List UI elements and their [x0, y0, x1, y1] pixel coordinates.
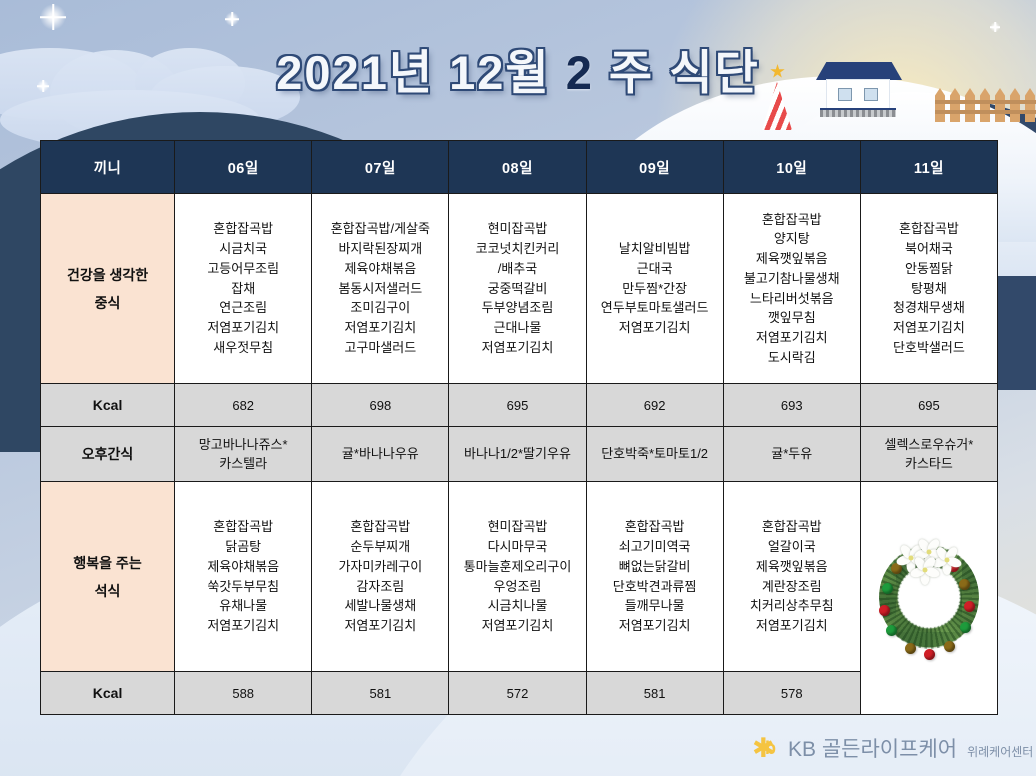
header-day-06: 06일 [175, 141, 312, 194]
row-label-lunch-line2: 중식 [43, 289, 172, 317]
house-window [864, 88, 878, 101]
star-sparkle-icon [40, 4, 66, 30]
table-row-dinner-kcal: Kcal 588 581 572 581 578 [41, 672, 998, 715]
ornament-green [960, 622, 971, 633]
logo-letter-b: b [765, 739, 776, 757]
cell-kcal-lunch-08: 695 [449, 384, 586, 427]
cell-snack-09: 단호박죽*토마토1/2 [586, 427, 723, 482]
row-label-dinner: 행복을 주는 석식 [41, 482, 175, 672]
cell-kcal-lunch-07: 698 [312, 384, 449, 427]
star-sparkle-icon [225, 12, 239, 26]
cell-lunch-09: 날치알비빔밥근대국만두찜*간장연두부토마토샐러드저염포기김치 [586, 194, 723, 384]
row-label-lunch-line1: 건강을 생각한 [43, 261, 172, 289]
cell-dinner-09: 혼합잡곡밥쇠고기미역국뼈없는닭갈비단호박견과류찜들깨무나물저염포기김치 [586, 482, 723, 672]
header-day-08: 08일 [449, 141, 586, 194]
cell-snack-07: 귤*바나나우유 [312, 427, 449, 482]
table-row-dinner: 행복을 주는 석식 혼합잡곡밥닭곰탕제육야채볶음쑥갓두부무침유채나물저염포기김치… [41, 482, 998, 672]
cell-kcal-dinner-09: 581 [586, 672, 723, 715]
fence-icon [935, 88, 1036, 124]
header-day-09: 09일 [586, 141, 723, 194]
white-flower-icon [936, 549, 958, 571]
row-label-kcal-dinner: Kcal [41, 672, 175, 715]
ornament-gold [959, 579, 970, 590]
cell-kcal-dinner-08: 572 [449, 672, 586, 715]
kb-golden-life-care-logo: ✱ b KB 골든라이프케어 위례케어센터 [752, 733, 1033, 763]
title-week-number: 2 [566, 46, 594, 99]
table-header-row: 끼니 06일 07일 08일 09일 10일 11일 [41, 141, 998, 194]
cell-dinner-07: 혼합잡곡밥순두부찌개가자미카레구이감자조림세발나물생채저염포기김치 [312, 482, 449, 672]
star-sparkle-icon [37, 80, 49, 92]
row-label-dinner-line1: 행복을 주는 [43, 549, 172, 577]
header-day-10: 10일 [723, 141, 860, 194]
cell-lunch-06: 혼합잡곡밥시금치국고등어무조림잡채연근조림저염포기김치새우젓무침 [175, 194, 312, 384]
row-label-lunch: 건강을 생각한 중식 [41, 194, 175, 384]
house-icon [820, 62, 898, 120]
row-label-dinner-line2: 석식 [43, 577, 172, 605]
house-window [838, 88, 852, 101]
row-label-kcal-lunch: Kcal [41, 384, 175, 427]
cell-snack-06: 망고바나나쥬스*카스텔라 [175, 427, 312, 482]
logo-main-text: KB 골든라이프케어 [788, 733, 957, 763]
title-prefix: 2021년 12월 [276, 46, 565, 99]
weekly-menu-table: 끼니 06일 07일 08일 09일 10일 11일 건강을 생각한 중식 혼합… [40, 140, 998, 715]
cell-lunch-10: 혼합잡곡밥양지탕제육깻잎볶음불고기참나물생채느타리버섯볶음깻잎무침저염포기김치도… [723, 194, 860, 384]
logo-sub-text: 위례케어센터 [967, 743, 1033, 760]
meal-plan-poster: 2021년 12월 2 주 식단 끼니 06일 07일 08일 09일 10일 … [0, 0, 1036, 776]
cell-kcal-lunch-06: 682 [175, 384, 312, 427]
cell-kcal-lunch-11: 695 [860, 384, 997, 427]
candy-tree-cone [762, 82, 792, 130]
candy-tree-icon [762, 68, 792, 130]
header-day-11: 11일 [860, 141, 997, 194]
house-body [826, 79, 890, 109]
cell-dinner-08: 현미잡곡밥다시마무국통마늘훈제오리구이우엉조림시금치나물저염포기김치 [449, 482, 586, 672]
ornament-red [924, 649, 935, 660]
table-row-lunch-kcal: Kcal 682 698 695 692 693 695 [41, 384, 998, 427]
white-flower-icon [914, 559, 936, 581]
cell-kcal-lunch-09: 692 [586, 384, 723, 427]
cell-kcal-dinner-10: 578 [723, 672, 860, 715]
ornament-red [964, 601, 975, 612]
ornament-gold [905, 643, 916, 654]
ornament-green [886, 625, 897, 636]
wreath-graphic [870, 533, 988, 663]
table-row-snack: 오후간식 망고바나나쥬스*카스텔라 귤*바나나우유 바나나1/2*딸기우유 단호… [41, 427, 998, 482]
cell-kcal-dinner-06: 588 [175, 672, 312, 715]
cell-dinner-10: 혼합잡곡밥얼갈이국제육깻잎볶음계란장조림치커리상추무침저염포기김치 [723, 482, 860, 672]
row-label-snack: 오후간식 [41, 427, 175, 482]
christmas-wreath-image [860, 482, 997, 715]
menu-table-wrapper: 끼니 06일 07일 08일 09일 10일 11일 건강을 생각한 중식 혼합… [40, 140, 998, 715]
ornament-green [882, 583, 893, 594]
star-sparkle-icon [990, 22, 1000, 32]
cell-snack-11: 셀렉스로우슈거*카스타드 [860, 427, 997, 482]
cell-dinner-06: 혼합잡곡밥닭곰탕제육야채볶음쑥갓두부무침유채나물저염포기김치 [175, 482, 312, 672]
header-day-07: 07일 [312, 141, 449, 194]
cell-lunch-07: 혼합잡곡밥/게살죽바지락된장찌개제육야채볶음봄동시저샐러드조미김구이저염포기김치… [312, 194, 449, 384]
house-base [820, 108, 896, 117]
kb-star-icon: ✱ b [752, 735, 782, 761]
cell-lunch-08: 현미잡곡밥코코넛치킨커리/배추국궁중떡갈비두부양념조림근대나물저염포기김치 [449, 194, 586, 384]
ornament-gold [944, 641, 955, 652]
cell-kcal-dinner-07: 581 [312, 672, 449, 715]
table-row-lunch: 건강을 생각한 중식 혼합잡곡밥시금치국고등어무조림잡채연근조림저염포기김치새우… [41, 194, 998, 384]
house-roof [816, 62, 902, 80]
cell-kcal-lunch-10: 693 [723, 384, 860, 427]
header-meal-type: 끼니 [41, 141, 175, 194]
cell-lunch-11: 혼합잡곡밥북어채국안동찜닭탕평채청경채무생채저염포기김치단호박샐러드 [860, 194, 997, 384]
cell-snack-10: 귤*두유 [723, 427, 860, 482]
ornament-red [879, 605, 890, 616]
cell-snack-08: 바나나1/2*딸기우유 [449, 427, 586, 482]
